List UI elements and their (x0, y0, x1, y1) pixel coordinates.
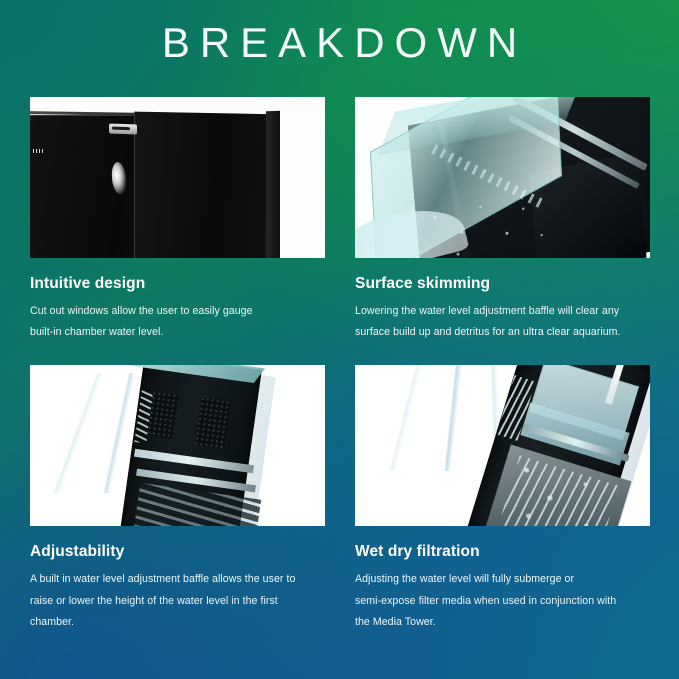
card-body-adjustability: A built in water level adjustment baffle… (30, 569, 325, 633)
sump-door-panel-shape (134, 112, 279, 258)
card-body-line: raise or lower the height of the water l… (30, 591, 325, 612)
feature-card-grid: Intuitive design Cut out windows allow t… (30, 97, 649, 633)
card-body-line: Cut out windows allow the user to easily… (30, 301, 325, 322)
product-photo-adjustability (30, 365, 325, 526)
card-body-line: chamber. (30, 612, 325, 633)
card-title-surface-skimming: Surface skimming (355, 275, 650, 292)
card-title-wet-dry-filtration: Wet dry filtration (355, 543, 650, 560)
card-title-adjustability: Adjustability (30, 543, 325, 560)
page-title: BREAKDOWN (0, 22, 679, 64)
card-body-wet-dry-filtration: Adjusting the water level will fully sub… (355, 569, 650, 633)
product-photo-intuitive-design (30, 97, 325, 258)
cutout-window-shape (109, 124, 137, 135)
feature-card-wet-dry-filtration: Wet dry filtration Adjusting the water l… (355, 365, 650, 633)
product-photo-wet-dry-filtration (355, 365, 650, 526)
card-body-line: built-in chamber water level. (30, 322, 325, 343)
card-body-line: Adjusting the water level will fully sub… (355, 569, 650, 590)
card-body-line: Lowering the water level adjustment baff… (355, 301, 650, 322)
card-body-line: surface build up and detritus for an ult… (355, 322, 650, 343)
card-row-bottom: Adjustability A built in water level adj… (30, 365, 649, 633)
vent-slots-shape (33, 149, 44, 153)
card-body-line: the Media Tower. (355, 612, 650, 633)
infographic-poster: BREAKDOWN Intuitive design (0, 0, 679, 679)
card-body-line: A built in water level adjustment baffle… (30, 569, 325, 590)
card-title-intuitive-design: Intuitive design (30, 275, 325, 292)
card-body-intuitive-design: Cut out windows allow the user to easily… (30, 301, 325, 343)
feature-card-adjustability: Adjustability A built in water level adj… (30, 365, 325, 633)
feature-card-intuitive-design: Intuitive design Cut out windows allow t… (30, 97, 325, 343)
product-photo-surface-skimming (355, 97, 650, 258)
sump-right-edge-shape (266, 111, 280, 258)
card-row-top: Intuitive design Cut out windows allow t… (30, 97, 649, 343)
card-body-surface-skimming: Lowering the water level adjustment baff… (355, 301, 650, 343)
card-body-line: semi-expose filter media when used in co… (355, 591, 650, 612)
feature-card-surface-skimming: Surface skimming Lowering the water leve… (355, 97, 650, 343)
